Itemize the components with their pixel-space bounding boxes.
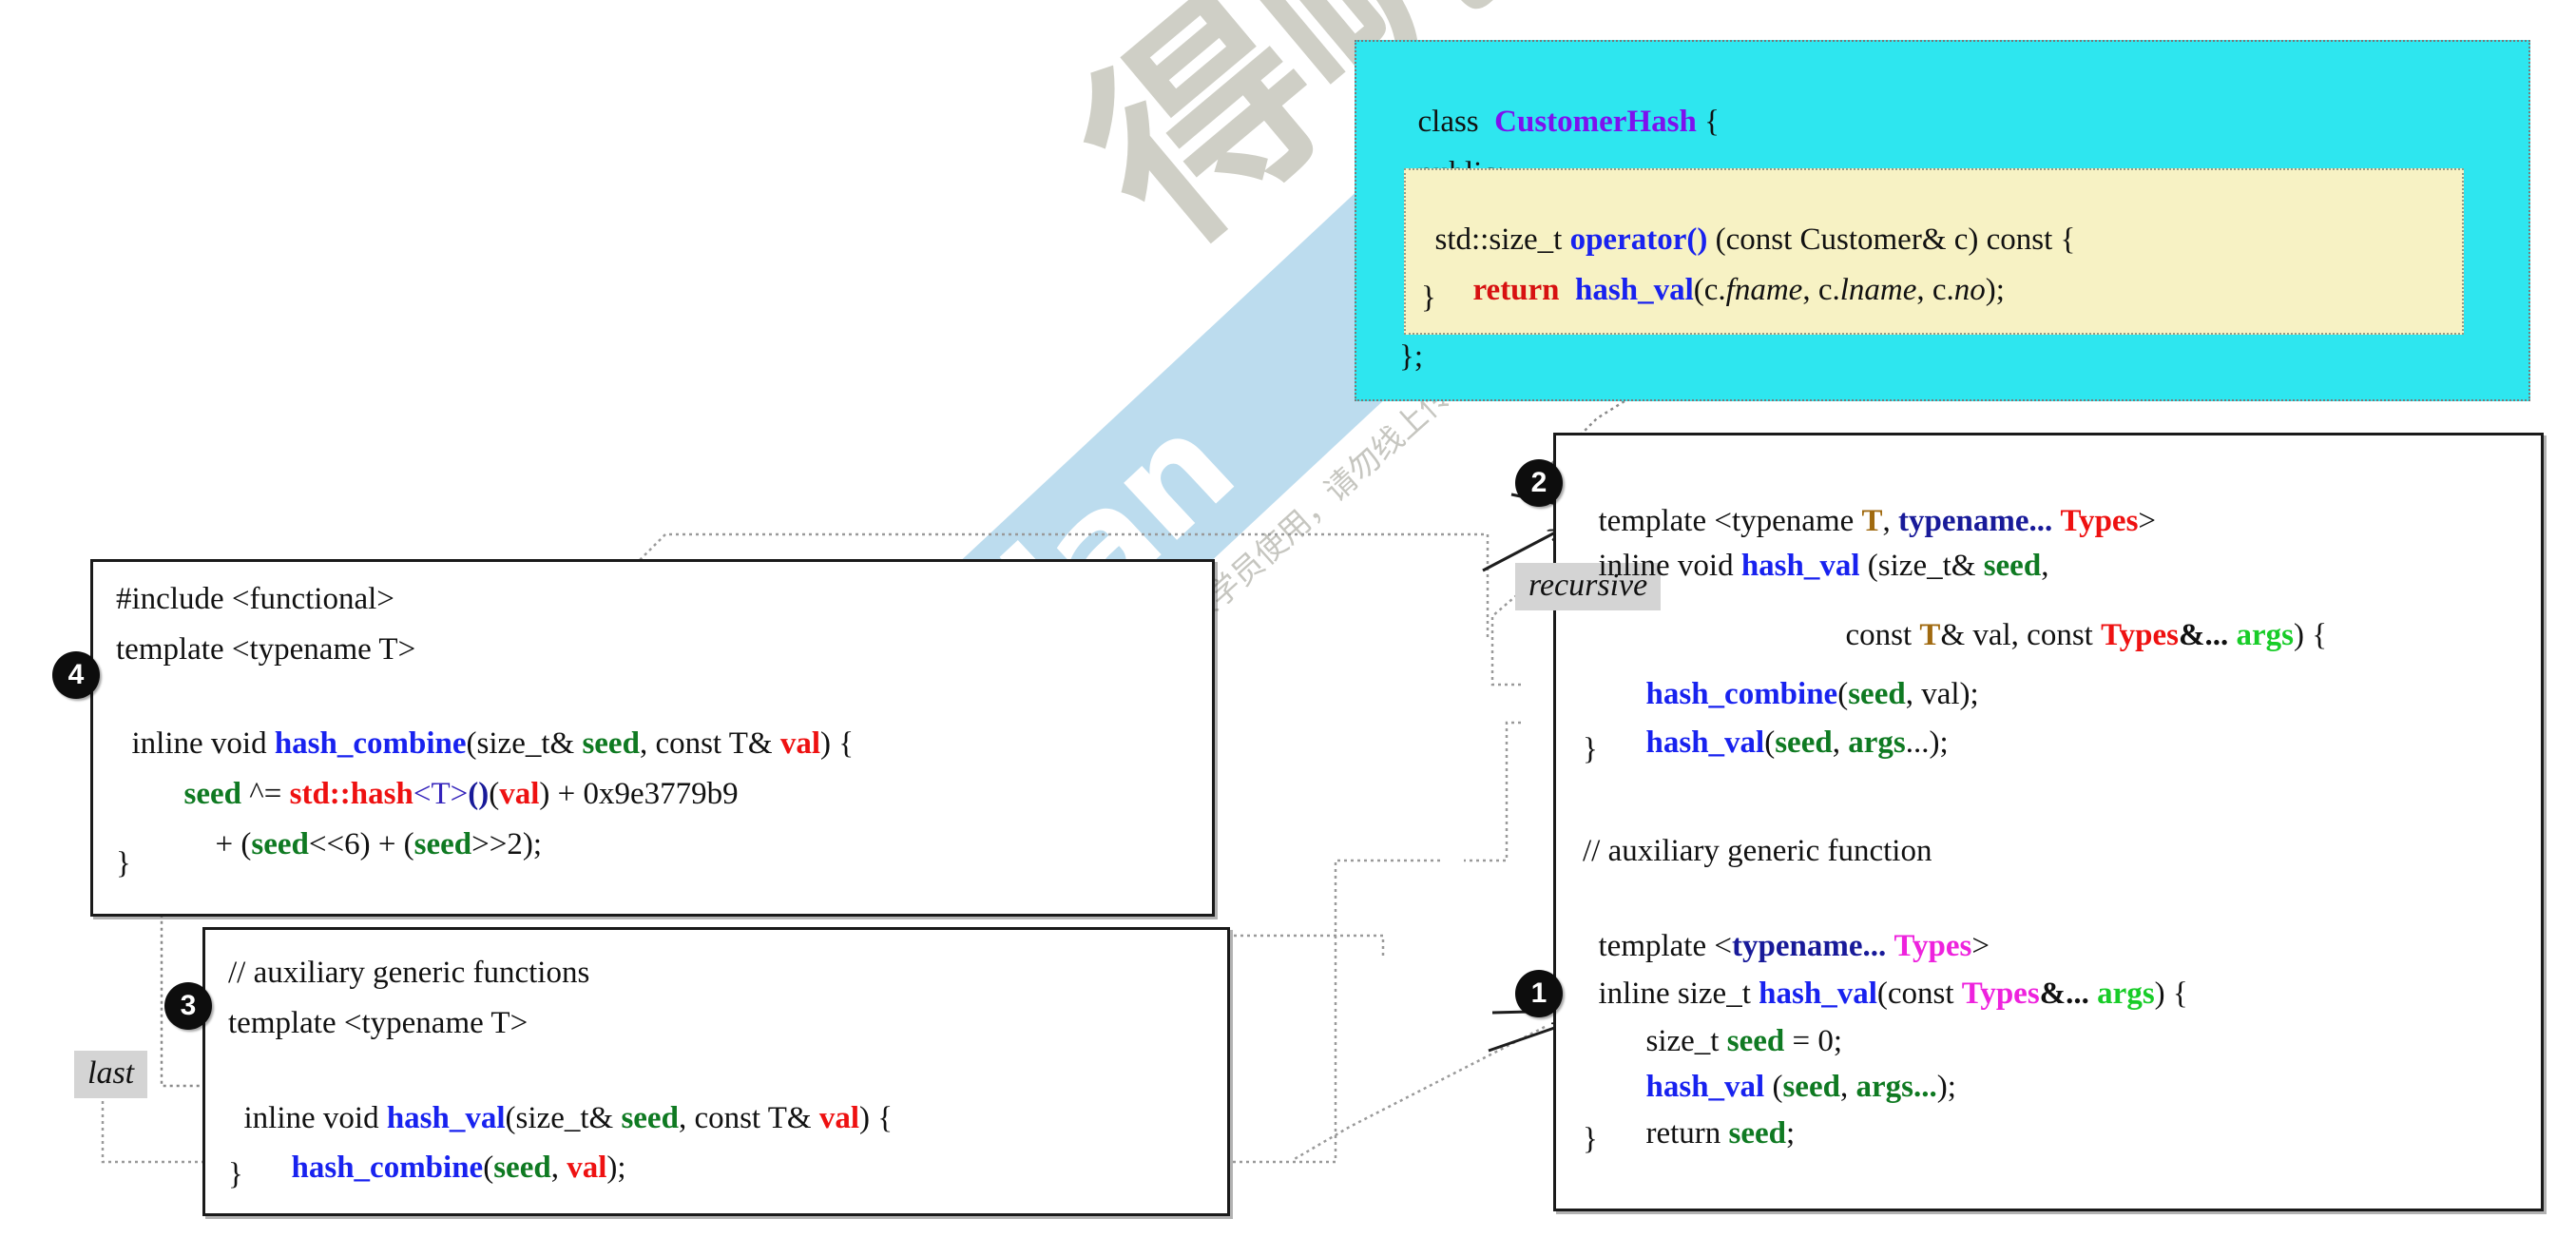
args-param-2: args (2089, 977, 2155, 1011)
box1-comment: // auxiliary generic function (1583, 829, 1932, 874)
operator-close-brace: } (1421, 276, 1436, 320)
box2-close-brace: } (1583, 727, 1598, 772)
paren-brace-4: ) { (859, 1101, 893, 1135)
args-sep-2: , c. (1916, 273, 1953, 307)
comma-5: , (551, 1151, 567, 1185)
tag-last: last (74, 1051, 147, 1098)
inline-void-1: inline void (1599, 549, 1741, 583)
box3-hash-combine-call: hash_combine(seed, val); (276, 1101, 626, 1190)
val-arg-3: val (567, 1151, 606, 1185)
box3-comment: // auxiliary generic functions (228, 951, 589, 996)
semicolon-1: ; (1786, 1116, 1795, 1151)
angle-close-1: > (2138, 504, 2156, 538)
paren-open-4: ( (483, 1151, 493, 1185)
args-arg-2: args... (1855, 1070, 1936, 1104)
args-param: args (2228, 618, 2294, 652)
bullet-3: 3 (164, 982, 212, 1030)
seed-arg-2: seed (1775, 725, 1833, 760)
bullet-4: 4 (52, 651, 100, 699)
types-pack: Types (2061, 504, 2139, 538)
seed-return: seed (1729, 1116, 1787, 1151)
box2-hash-val-recursive-call: hash_val(seed, args...); (1630, 676, 1949, 765)
ellipsis-close-1: ...); (1906, 725, 1949, 760)
operator-return-line: return hash_val(c.fname, c.lname, c.no); (1457, 223, 2005, 313)
bullet-1: 1 (1515, 970, 1563, 1017)
paren-close-3: ); (1937, 1070, 1956, 1104)
golden-ratio-constant: + 0x9e3779b9 (549, 777, 738, 811)
val-param-3: val (819, 1101, 859, 1135)
seed-shift-left: seed (251, 827, 309, 861)
box3-template-line: template <typename T> (228, 1001, 528, 1046)
paren-close-4: ); (606, 1151, 625, 1185)
field-fname: fname (1726, 273, 1803, 307)
return-kw-2: return (1646, 1116, 1729, 1151)
field-no: no (1954, 273, 1986, 307)
space-1 (2052, 504, 2060, 538)
paren-open-2: ( (1764, 725, 1775, 760)
pack-ellipsis-1: &... (2179, 618, 2228, 652)
field-lname: lname (1840, 273, 1917, 307)
class-name: CustomerHash (1494, 105, 1697, 139)
seed-param-3: seed (621, 1101, 679, 1135)
const-T-ref-2: , const T& (679, 1101, 819, 1135)
box1-return-line: return seed; (1630, 1067, 1795, 1156)
val-param-2: val (780, 726, 820, 761)
pack-ellipsis-2: &... (2040, 977, 2089, 1011)
class-close-brace: }; (1399, 335, 1423, 379)
box4-include-line: #include <functional> (116, 577, 394, 622)
Types-ref: Types (2101, 618, 2179, 652)
box3-close-brace: } (228, 1152, 243, 1197)
args-close: ); (1986, 273, 2005, 307)
seed-shift-right: seed (414, 827, 472, 861)
return-keyword: return (1473, 273, 1560, 307)
hash-val-call: hash_val (1575, 273, 1694, 307)
comma-3: , (1833, 725, 1849, 760)
shift-left-op: <<6) + ( (309, 827, 414, 861)
class-open-brace: { (1704, 105, 1720, 139)
args-arg-1: args (1848, 725, 1906, 760)
comma-4: , (1840, 1070, 1856, 1104)
paren-brace-1: ) { (2294, 618, 2327, 652)
box4-shift-line: + (seed<<6) + (seed>>2); (200, 778, 542, 867)
paren-brace-3: ) { (820, 726, 854, 761)
hash-val-call-recursive: hash_val (1646, 725, 1765, 760)
const-2: (const (1877, 977, 1962, 1011)
args-sep-1: , c. (1802, 273, 1839, 307)
plus-paren-1: + ( (216, 827, 252, 861)
box1-close-brace: } (1583, 1117, 1598, 1162)
box4-template-line: template <typename T> (116, 628, 415, 672)
box4-close-brace: } (116, 841, 131, 886)
hash-combine-call-2: hash_combine (292, 1151, 484, 1185)
seed-arg-4: seed (493, 1151, 551, 1185)
Types-ref-2: Types (1962, 977, 2040, 1011)
args-open: (c. (1694, 273, 1726, 307)
paren-brace-2: ) { (2155, 977, 2188, 1011)
bullet-2: 2 (1515, 459, 1563, 507)
shift-right-op: >>2); (471, 827, 542, 861)
